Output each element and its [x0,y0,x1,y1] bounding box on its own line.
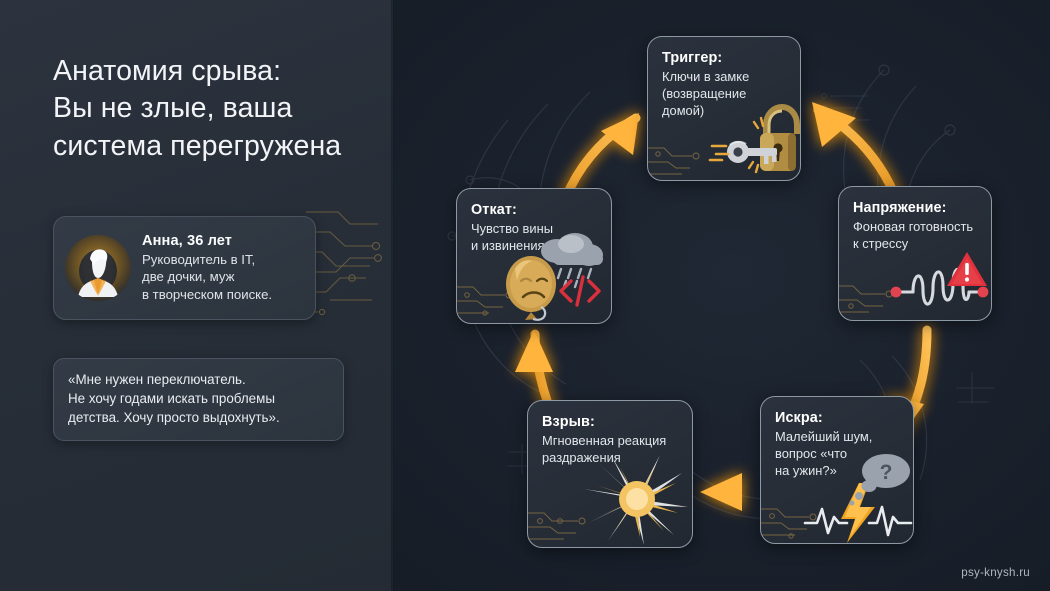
cycle-card-tension-title: Напряжение: [853,200,978,216]
site-watermark: psy-knysh.ru [961,566,1030,579]
cycle-card-rollback[interactable]: Откат: Чувство вины и извинения [456,188,612,324]
persona-text: Анна, 36 лет Руководитель в IT, две дочк… [142,233,272,303]
cycle-card-trigger[interactable]: Триггер: Ключи в замке (возвращение домо… [647,36,801,181]
cycle-card-spark[interactable]: Искра: Малейший шум, вопрос «что на ужин… [760,396,914,544]
cycle-card-tension[interactable]: Напряжение: Фоновая готовность к стрессу [838,186,992,321]
cycle-card-rollback-title: Откат: [471,202,598,218]
cycle-card-spark-body: Малейший шум, вопрос «что на ужин?» [775,429,900,479]
panel-divider [391,0,394,591]
persona-description: Руководитель в IT, две дочки, муж в твор… [142,251,272,303]
quote-text: «Мне нужен переключатель. Не хочу годами… [68,371,329,427]
cycle-card-explosion-title: Взрыв: [542,414,679,430]
page-title: Анатомия срыва: Вы не злые, ваша система… [53,53,383,165]
woman-avatar-icon [65,235,131,301]
cycle-card-rollback-body: Чувство вины и извинения [471,221,598,255]
persona-card: Анна, 36 лет Руководитель в IT, две дочк… [53,216,316,320]
cycle-card-trigger-body: Ключи в замке (возвращение домой) [662,69,787,119]
infographic-canvas: Анатомия срыва: Вы не злые, ваша система… [0,0,1050,591]
cycle-card-spark-title: Искра: [775,410,900,426]
cycle-card-explosion-body: Мгновенная реакция раздражения [542,433,679,467]
persona-name: Анна, 36 лет [142,233,272,249]
cycle-card-tension-body: Фоновая готовность к стрессу [853,219,978,253]
cycle-card-explosion[interactable]: Взрыв: Мгновенная реакция раздражения [527,400,693,548]
cycle-card-trigger-title: Триггер: [662,50,787,66]
quote-card: «Мне нужен переключатель. Не хочу годами… [53,358,344,441]
